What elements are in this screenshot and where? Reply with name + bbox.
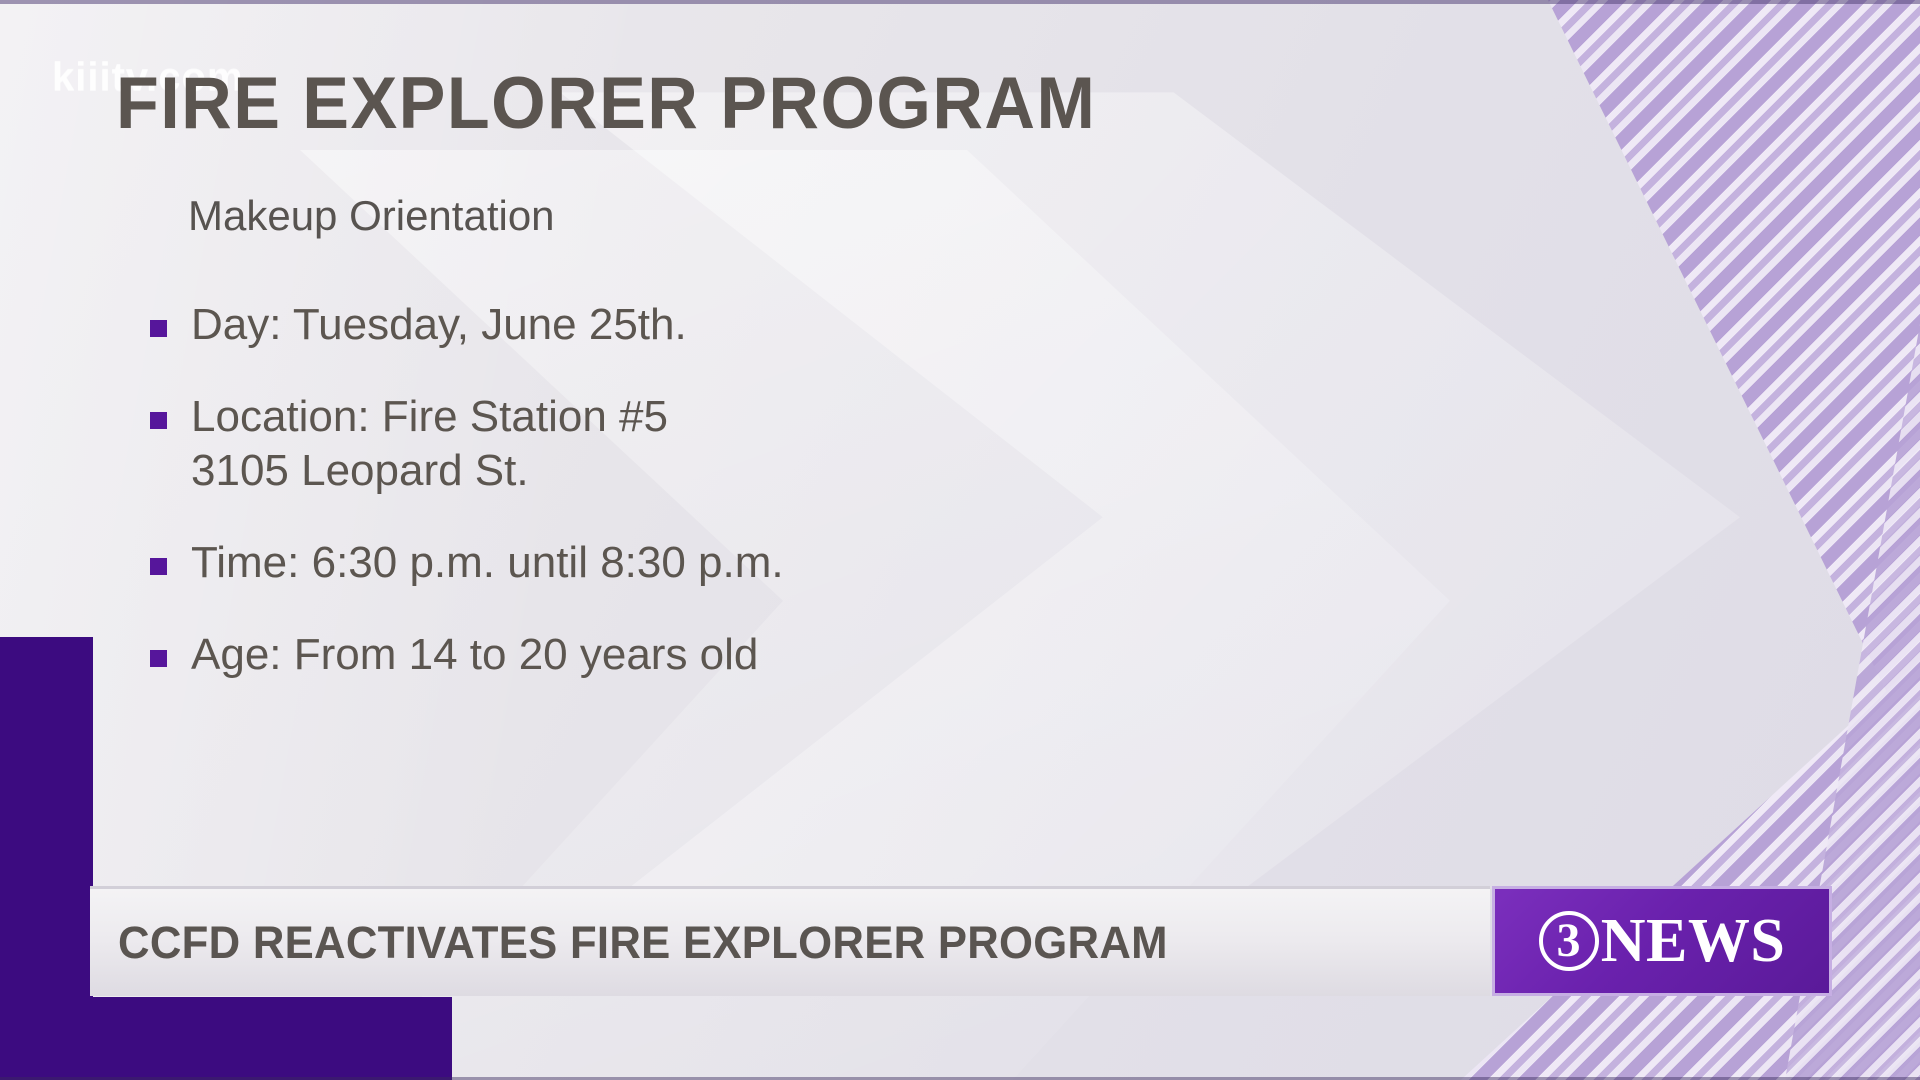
square-bullet-icon — [150, 650, 167, 667]
square-bullet-icon — [150, 412, 167, 429]
list-item-label: Age: From 14 to 20 years old — [191, 628, 758, 682]
list-item: Location: Fire Station #5 3105 Leopard S… — [150, 390, 1250, 498]
slide-subtitle: Makeup Orientation — [188, 192, 555, 240]
list-item: Time: 6:30 p.m. until 8:30 p.m. — [150, 536, 1250, 590]
network-logo-text: 3 NEWS — [1539, 906, 1786, 977]
list-item: Age: From 14 to 20 years old — [150, 628, 1250, 682]
square-bullet-icon — [150, 558, 167, 575]
purple-accent-band — [0, 997, 452, 1080]
lower-third: CCFD REACTIVATES FIRE EXPLORER PROGRAM 3… — [90, 886, 1832, 996]
frame-edge-top — [0, 0, 1920, 4]
slide-title: FIRE EXPLORER PROGRAM — [116, 62, 1096, 145]
headline-banner: CCFD REACTIVATES FIRE EXPLORER PROGRAM — [90, 886, 1490, 996]
slide-bullet-list: Day: Tuesday, June 25th. Location: Fire … — [150, 298, 1250, 683]
list-item: Day: Tuesday, June 25th. — [150, 298, 1250, 352]
network-logo: 3 NEWS — [1492, 886, 1832, 996]
square-bullet-icon — [150, 320, 167, 337]
list-item-label: Time: 6:30 p.m. until 8:30 p.m. — [191, 536, 784, 590]
circled-three-icon: 3 — [1539, 911, 1599, 971]
list-item-label: Day: Tuesday, June 25th. — [191, 298, 687, 352]
broadcast-stage: kiiitv.com FIRE EXPLORER PROGRAM Makeup … — [0, 0, 1920, 1080]
headline-text: CCFD REACTIVATES FIRE EXPLORER PROGRAM — [118, 917, 1168, 969]
network-wordmark: NEWS — [1601, 906, 1786, 977]
list-item-label: Location: Fire Station #5 3105 Leopard S… — [191, 390, 668, 498]
